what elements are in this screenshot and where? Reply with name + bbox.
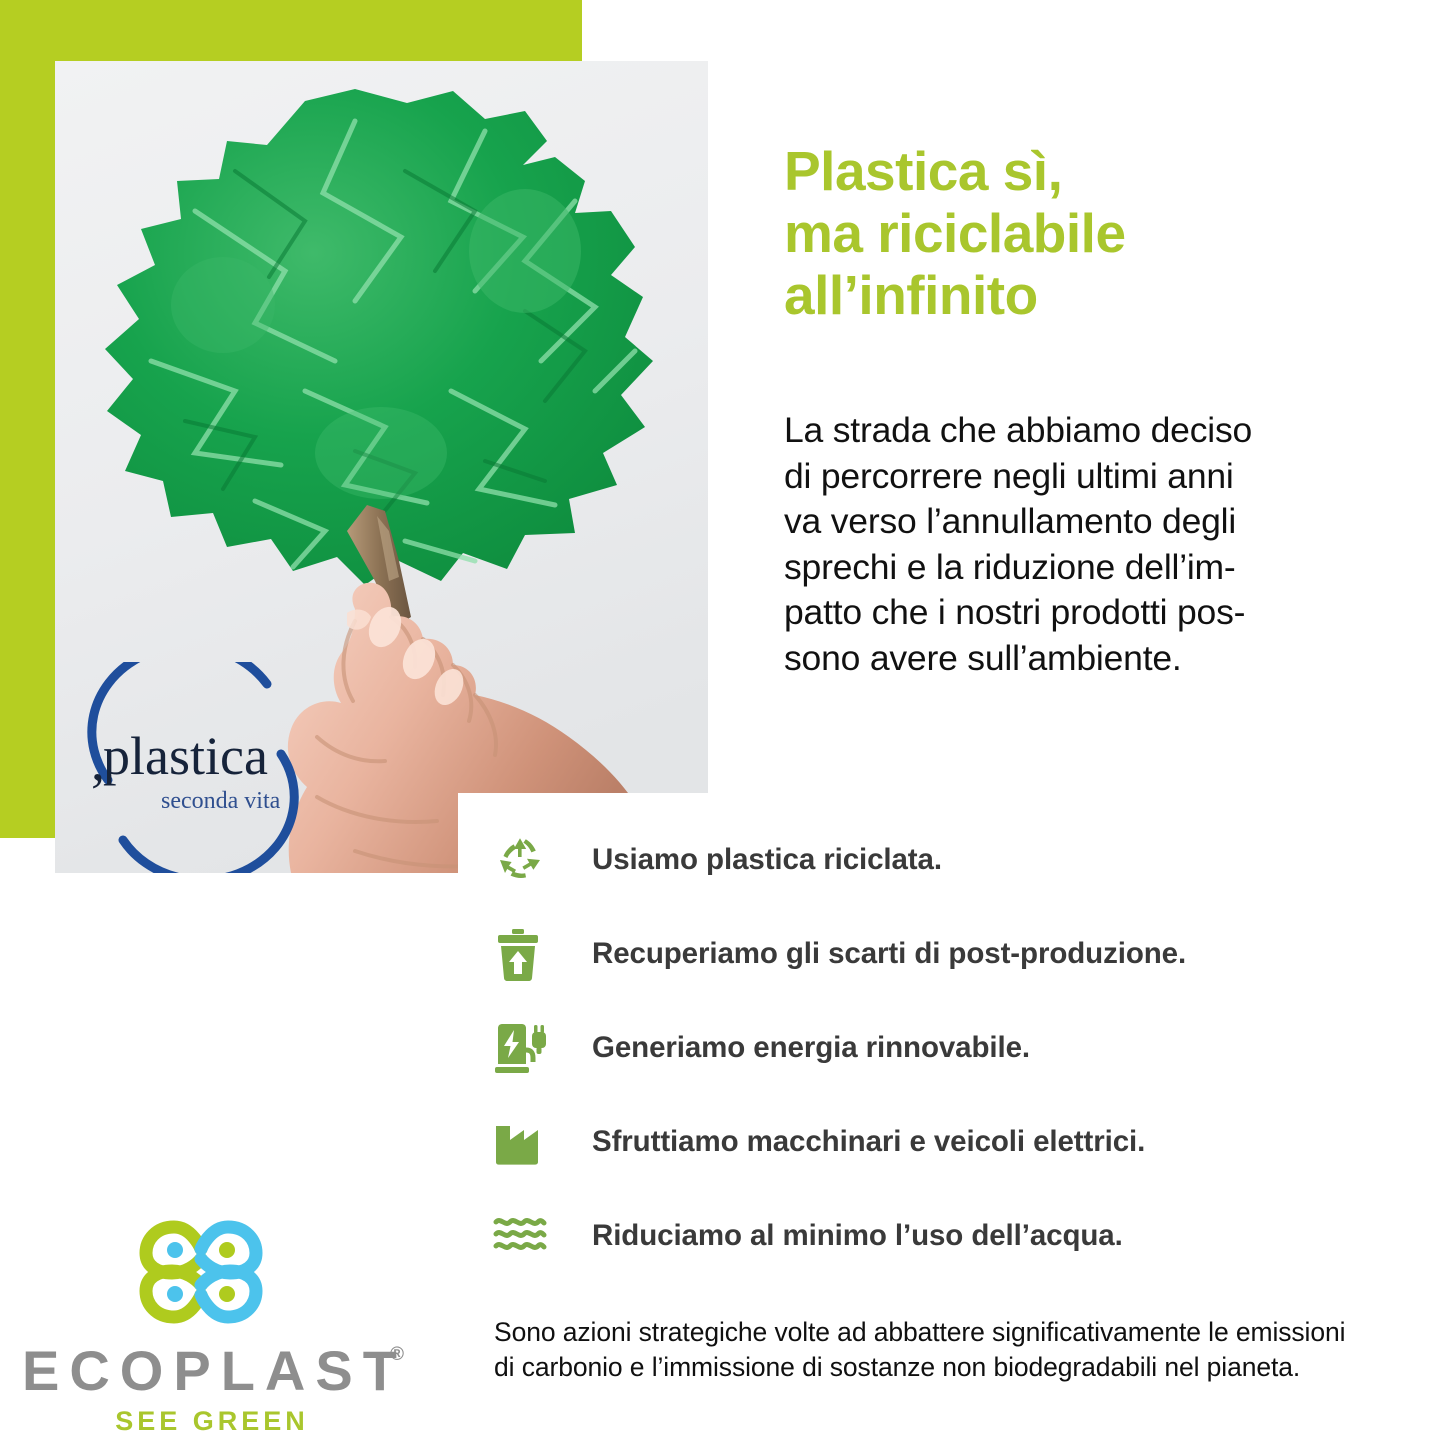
footnote-line-2: di carbonio e l’immissione di sostanze n… bbox=[494, 1350, 1384, 1385]
sustainability-action-list: Usiamo plastica riciclata. Recuperiamo g… bbox=[492, 815, 1392, 1285]
headline-line-2: ma riciclabile bbox=[784, 202, 1404, 264]
butterfly-infinity-mark-icon bbox=[126, 1203, 276, 1341]
plastica-seconda-vita-logo: , plastica seconda vita bbox=[77, 662, 317, 873]
headline-line-1: Plastica sì, bbox=[784, 140, 1404, 202]
ecoplast-tagline: SEE GREEN bbox=[22, 1408, 402, 1435]
ecoplast-logo: ECOPLAST ® SEE GREEN bbox=[22, 1203, 402, 1443]
plastica-wordmark: plastica bbox=[103, 726, 268, 786]
intro-line-5: patto che i nostri prodotti pos- bbox=[784, 590, 1384, 636]
water-waves-icon bbox=[492, 1208, 554, 1264]
ecoplast-wordmark: ECOPLAST bbox=[22, 1343, 402, 1399]
intro-line-6: sono avere sull’ambiente. bbox=[784, 636, 1384, 682]
headline-line-3: all’infinito bbox=[784, 264, 1404, 326]
intro-paragraph: La strada che abbiamo deciso di percorre… bbox=[784, 408, 1384, 682]
trash-recovery-icon bbox=[492, 926, 554, 982]
footnote-line-1: Sono azioni strategiche volte ad abbatte… bbox=[494, 1315, 1384, 1350]
list-item-label: Riduciamo al minimo l’uso dell’acqua. bbox=[592, 1219, 1123, 1253]
factory-icon bbox=[492, 1114, 554, 1170]
footnote-paragraph: Sono azioni strategiche volte ad abbatte… bbox=[494, 1315, 1384, 1385]
intro-line-2: di percorrere negli ultimi anni bbox=[784, 454, 1384, 500]
list-item: Riduciamo al minimo l’uso dell’acqua. bbox=[492, 1191, 1392, 1281]
list-item: Recuperiamo gli scarti di post-produzion… bbox=[492, 909, 1392, 999]
page-title: Plastica sì, ma riciclabile all’infinito bbox=[784, 140, 1404, 326]
recycle-icon bbox=[492, 832, 554, 888]
intro-line-4: sprechi e la riduzione dell’im- bbox=[784, 545, 1384, 591]
list-item: Usiamo plastica riciclata. bbox=[492, 815, 1392, 905]
list-item-label: Recuperiamo gli scarti di post-produzion… bbox=[592, 937, 1186, 971]
intro-line-1: La strada che abbiamo deciso bbox=[784, 408, 1384, 454]
list-item-label: Generiamo energia rinnovabile. bbox=[592, 1031, 1030, 1065]
plastica-seconda-vita-svg: , plastica seconda vita bbox=[77, 662, 317, 873]
registered-trademark-symbol: ® bbox=[390, 1344, 404, 1366]
ev-charger-icon bbox=[492, 1020, 554, 1076]
list-item: Sfruttiamo macchinari e veicoli elettric… bbox=[492, 1097, 1392, 1187]
list-item-label: Sfruttiamo macchinari e veicoli elettric… bbox=[592, 1125, 1145, 1159]
hero-photo: , plastica seconda vita bbox=[55, 61, 708, 873]
list-item: Generiamo energia rinnovabile. bbox=[492, 1003, 1392, 1093]
list-item-label: Usiamo plastica riciclata. bbox=[592, 843, 942, 877]
intro-line-3: va verso l’annullamento degli bbox=[784, 499, 1384, 545]
plastica-tagline: seconda vita bbox=[161, 788, 281, 814]
